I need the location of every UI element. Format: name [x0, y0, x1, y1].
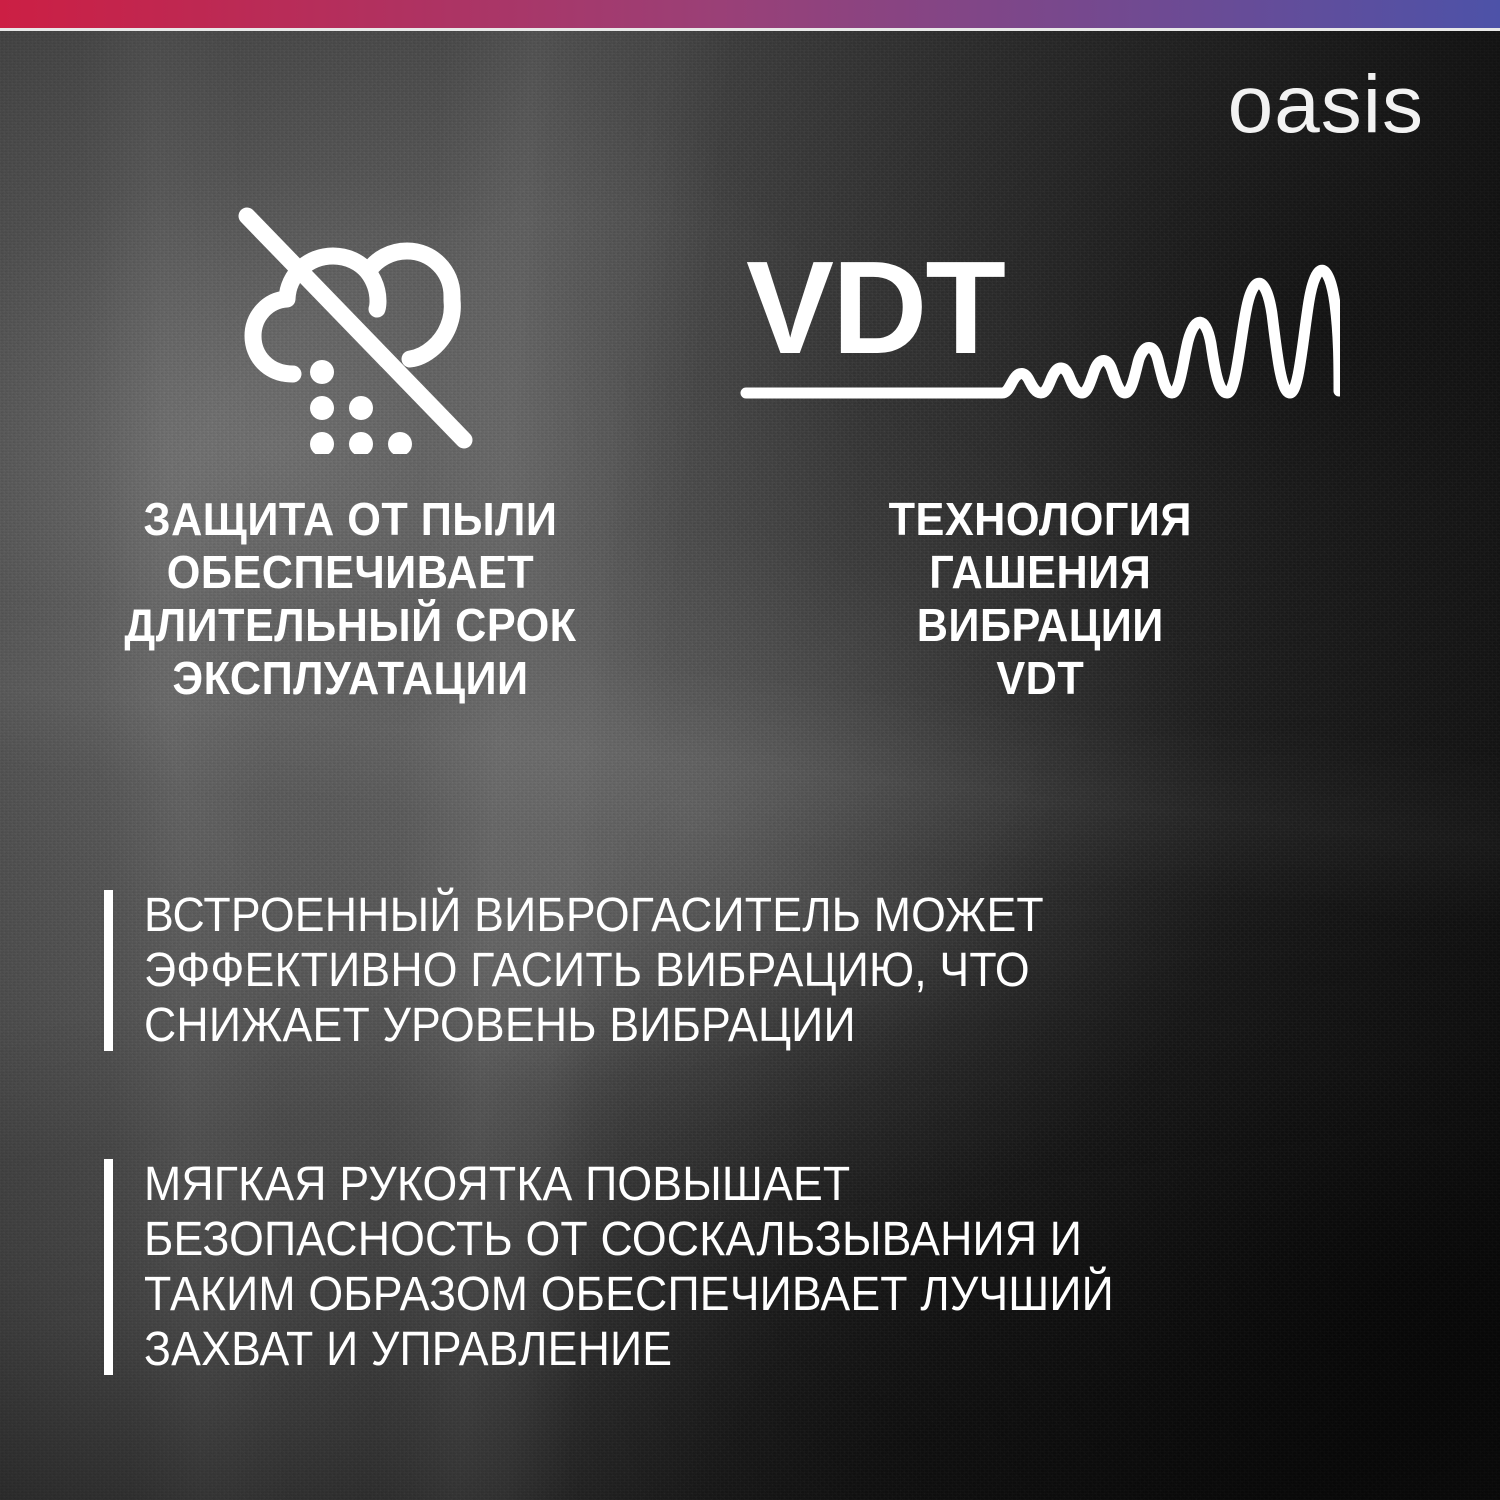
- feature-dust-protection: ЗАЩИТА ОТ ПЫЛИ ОБЕСПЕЧИВАЕТ ДЛИТЕЛЬНЫЙ С…: [0, 175, 700, 705]
- benefit-text: МЯГКАЯ РУКОЯТКА ПОВЫШАЕТ БЕЗОПАСНОСТЬ ОТ…: [144, 1157, 1331, 1377]
- svg-text:VDT: VDT: [746, 234, 1005, 381]
- feature-row: ЗАЩИТА ОТ ПЫЛИ ОБЕСПЕЧИВАЕТ ДЛИТЕЛЬНЫЙ С…: [0, 175, 1500, 705]
- benefit-block: ВСТРОЕННЫЙ ВИБРОГАСИТЕЛЬ МОЖЕТ ЭФФЕКТИВН…: [104, 888, 1420, 1053]
- no-dust-icon: [221, 175, 479, 475]
- feature-vibration-damping: VDT ТЕХНОЛОГИЯ ГАШЕНИЯ ВИБРАЦИИ VDT: [700, 175, 1380, 705]
- brand-logo: oasis: [1228, 64, 1424, 146]
- feature-vibration-damping-caption: ТЕХНОЛОГИЯ ГАШЕНИЯ ВИБРАЦИИ VDT: [888, 493, 1191, 705]
- accent-rule: [104, 1159, 113, 1375]
- benefit-text: ВСТРОЕННЫЙ ВИБРОГАСИТЕЛЬ МОЖЕТ ЭФФЕКТИВН…: [144, 888, 1331, 1053]
- product-feature-card: oasis: [0, 0, 1500, 1500]
- benefit-blocks: ВСТРОЕННЫЙ ВИБРОГАСИТЕЛЬ МОЖЕТ ЭФФЕКТИВН…: [104, 888, 1420, 1377]
- feature-dust-protection-caption: ЗАЩИТА ОТ ПЫЛИ ОБЕСПЕЧИВАЕТ ДЛИТЕЛЬНЫЙ С…: [124, 493, 576, 705]
- accent-rule: [104, 890, 113, 1051]
- benefit-block: МЯГКАЯ РУКОЯТКА ПОВЫШАЕТ БЕЗОПАСНОСТЬ ОТ…: [104, 1157, 1420, 1377]
- vdt-waveform-icon: VDT: [740, 175, 1340, 475]
